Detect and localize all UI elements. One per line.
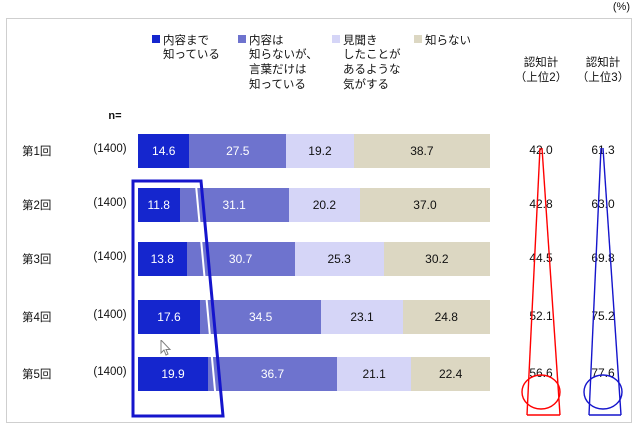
row-sample-size: (1400) (84, 143, 136, 155)
legend-label-0-line-1: 知っている (163, 48, 238, 63)
total3-value: 77.6 (575, 366, 631, 380)
stacked-bar: 11.831.120.237.0 (138, 188, 490, 222)
bar-segment: 30.7 (187, 242, 295, 276)
bar-segment: 31.1 (180, 188, 289, 222)
total3-value: 61.3 (575, 143, 631, 157)
row-label-第4回: 第4回 (22, 309, 74, 325)
bar-segment: 21.1 (337, 357, 411, 391)
legend-label-2-line-2: あるような (343, 63, 418, 78)
row-label-第3回: 第3回 (22, 251, 74, 267)
bar-segment: 36.7 (208, 357, 337, 391)
legend-label-1-line-3: 知っている (249, 78, 324, 93)
bar-segment: 25.3 (295, 242, 384, 276)
survey-stacked-bar-chart: (%) 内容まで 知っている 内容は 知らないが、 言葉だけは 知っている 見聞… (0, 0, 640, 433)
bar-segment: 27.5 (189, 134, 286, 168)
legend-swatch-icon-2 (332, 35, 340, 43)
bar-segment: 23.1 (321, 300, 402, 334)
column-header-total2-line-0: 認知計 (506, 56, 576, 71)
row-label-第5回: 第5回 (22, 366, 74, 382)
chart-legend: 内容まで 知っている 内容は 知らないが、 言葉だけは 知っている 見聞き した… (152, 34, 482, 114)
row-sample-size: (1400) (84, 197, 136, 209)
stacked-bar: 17.634.523.124.8 (138, 300, 490, 334)
total3-value: 75.2 (575, 309, 631, 323)
bar-segment: 24.8 (403, 300, 490, 334)
legend-swatch-icon-0 (152, 35, 160, 43)
bar-segment: 20.2 (289, 188, 360, 222)
unit-label: (%) (613, 1, 630, 13)
chart-row: 第5回(1400)19.936.721.122.456.677.6 (0, 357, 640, 391)
total2-value: 44.5 (513, 251, 569, 265)
row-sample-size: (1400) (84, 309, 136, 321)
total2-value: 42.0 (513, 143, 569, 157)
chart-row: 第3回(1400)13.830.725.330.244.569.8 (0, 242, 640, 276)
bar-segment: 38.7 (354, 134, 490, 168)
bar-segment: 22.4 (411, 357, 490, 391)
legend-item-3[interactable]: 知らない (414, 34, 500, 48)
column-header-total3-line-0: 認知計 (568, 56, 638, 71)
total2-value: 42.8 (513, 197, 569, 211)
bar-segment: 19.2 (286, 134, 354, 168)
chart-row: 第1回(1400)14.627.519.238.742.061.3 (0, 134, 640, 168)
bar-segment: 14.6 (138, 134, 189, 168)
bar-segment: 11.8 (138, 188, 180, 222)
legend-label-2-line-0: 見聞き (343, 35, 378, 47)
bar-segment: 37.0 (360, 188, 490, 222)
row-label-第1回: 第1回 (22, 143, 74, 159)
legend-label-2-line-3: 気がする (343, 78, 418, 93)
column-header-total2-line-1: （上位2） (506, 71, 576, 86)
stacked-bar: 14.627.519.238.7 (138, 134, 490, 168)
row-sample-size: (1400) (84, 366, 136, 378)
bar-segment: 30.2 (384, 242, 490, 276)
legend-label-2-line-1: したことが (343, 48, 418, 63)
legend-item-1[interactable]: 内容は 知らないが、 言葉だけは 知っている (238, 34, 324, 93)
bar-segment: 34.5 (200, 300, 321, 334)
legend-swatch-icon-1 (238, 35, 246, 43)
legend-item-0[interactable]: 内容まで 知っている (152, 34, 238, 63)
column-header-total2: 認知計 （上位2） (506, 56, 576, 86)
mouse-cursor-icon (160, 340, 172, 358)
legend-label-1-line-1: 知らないが、 (249, 48, 324, 63)
bar-segment: 13.8 (138, 242, 187, 276)
legend-label-3-line-0: 知らない (425, 35, 471, 47)
bar-segment: 19.9 (138, 357, 208, 391)
legend-label-1-line-0: 内容は (249, 35, 284, 47)
legend-label-0-line-0: 内容まで (163, 35, 209, 47)
legend-item-2[interactable]: 見聞き したことが あるような 気がする (332, 34, 418, 93)
chart-row: 第4回(1400)17.634.523.124.852.175.2 (0, 300, 640, 334)
column-header-total3: 認知計 （上位3） (568, 56, 638, 86)
legend-swatch-icon-3 (414, 35, 422, 43)
chart-row: 第2回(1400)11.831.120.237.042.863.0 (0, 188, 640, 222)
stacked-bar: 19.936.721.122.4 (138, 357, 490, 391)
n-header-label: n= (92, 110, 138, 122)
stacked-bar: 13.830.725.330.2 (138, 242, 490, 276)
total3-value: 69.8 (575, 251, 631, 265)
bar-segment: 17.6 (138, 300, 200, 334)
total3-value: 63.0 (575, 197, 631, 211)
total2-value: 56.6 (513, 366, 569, 380)
column-header-total3-line-1: （上位3） (568, 71, 638, 86)
total2-value: 52.1 (513, 309, 569, 323)
legend-label-1-line-2: 言葉だけは (249, 63, 324, 78)
row-sample-size: (1400) (84, 251, 136, 263)
row-label-第2回: 第2回 (22, 197, 74, 213)
